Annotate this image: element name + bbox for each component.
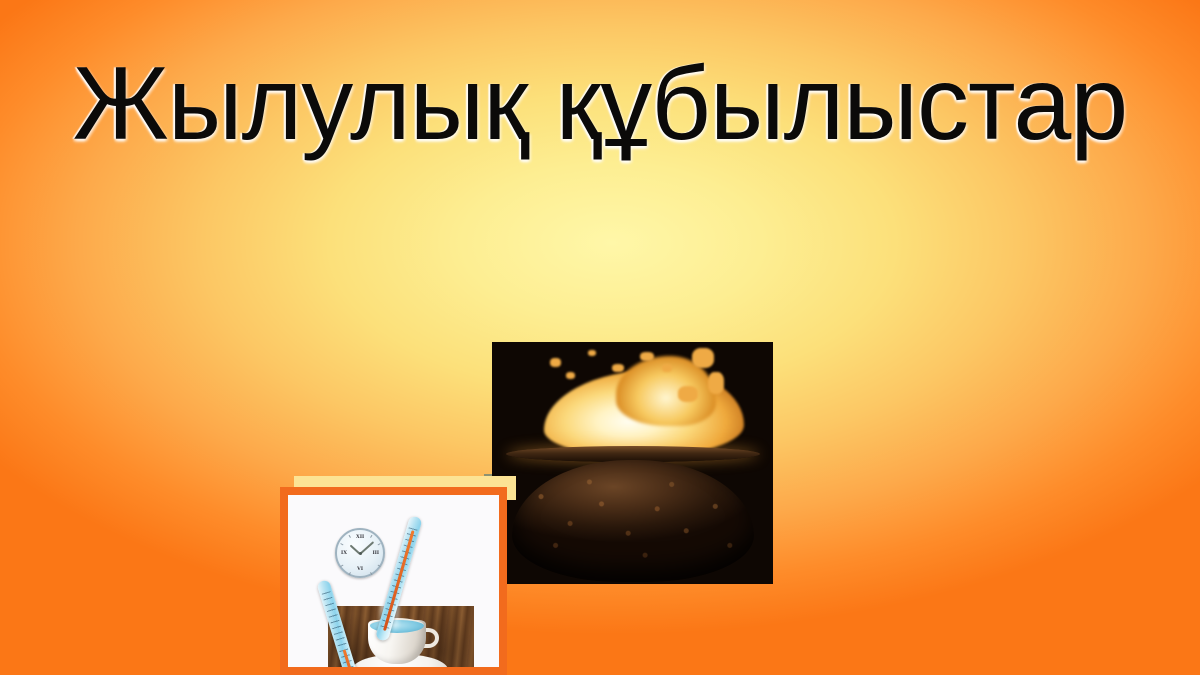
spark-icon <box>662 364 672 372</box>
stone-bowl <box>512 460 754 582</box>
analog-clock: XII III VI IX <box>335 528 385 578</box>
clock-tick <box>378 565 381 567</box>
clock-numeral-6: VI <box>357 566 363 572</box>
clock-tick <box>349 572 351 575</box>
spark-icon <box>550 358 561 367</box>
clock-numeral-9: IX <box>341 550 347 556</box>
spark-icon <box>708 372 724 394</box>
clock-tick <box>340 543 343 545</box>
clock-center-pin <box>359 552 362 555</box>
thermometer-card[interactable]: XII III VI IX <box>280 487 507 675</box>
clock-tick <box>370 572 372 575</box>
spark-icon <box>612 364 624 372</box>
clock-tick <box>370 535 372 538</box>
spark-icon <box>692 348 714 368</box>
slide-canvas: Жылулық құбылыстар <box>0 0 1200 675</box>
spark-icon <box>678 386 698 402</box>
clock-tick <box>349 535 351 538</box>
spark-icon <box>566 372 575 379</box>
clock-numeral-12: XII <box>356 534 364 540</box>
clock-tick <box>340 565 343 567</box>
stone-texture <box>512 460 754 582</box>
thermometer-card-inner: XII III VI IX <box>288 495 499 667</box>
clock-tick <box>378 543 381 545</box>
page-title: Жылулық құбылыстар <box>0 52 1200 156</box>
fire-photo[interactable] <box>492 342 773 584</box>
clock-numeral-3: III <box>373 550 379 556</box>
spark-icon <box>588 350 596 356</box>
spark-icon <box>640 352 654 361</box>
